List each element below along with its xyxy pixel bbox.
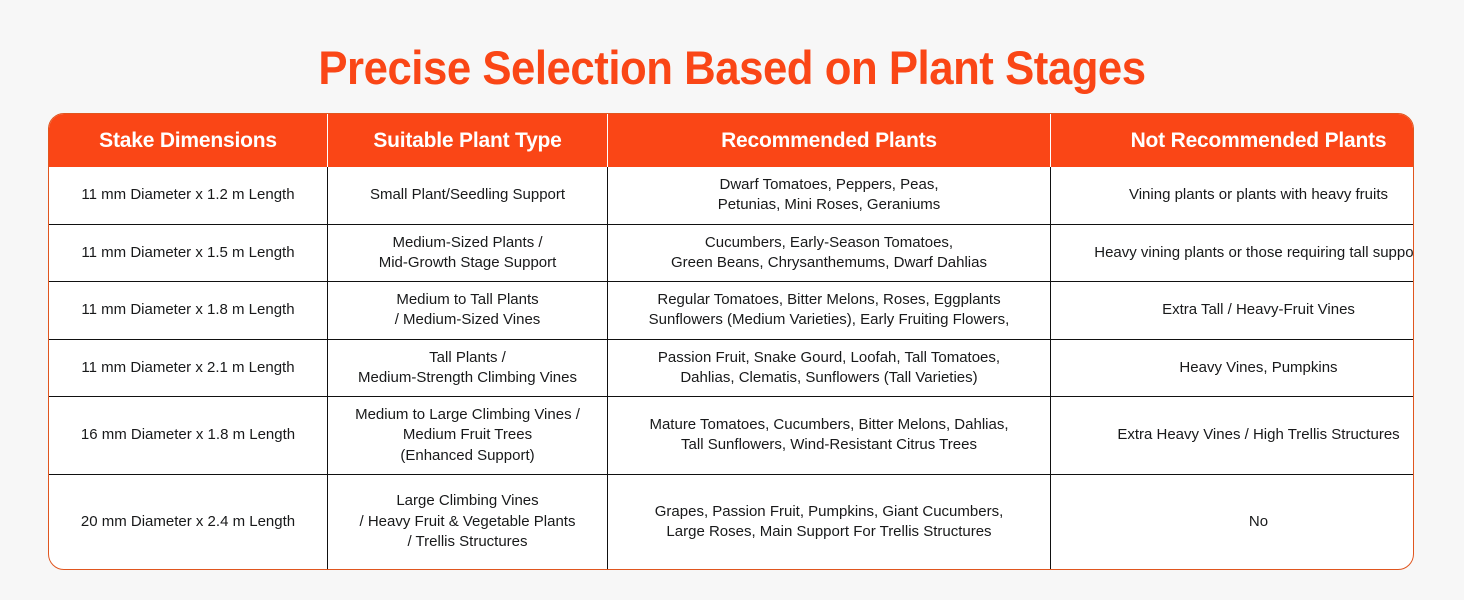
cell-suitable-plant-type: Large Climbing Vines / Heavy Fruit & Veg… — [328, 474, 608, 569]
text-line: / Heavy Fruit & Vegetable Plants — [338, 512, 597, 532]
column-header-recommended-plants: Recommended Plants — [608, 114, 1051, 167]
cell-recommended-plants: Regular Tomatoes, Bitter Melons, Roses, … — [608, 282, 1051, 340]
cell-stake-dimensions: 11 mm Diameter x 2.1 m Length — [49, 339, 328, 397]
text-line: Tall Sunflowers, Wind-Resistant Citrus T… — [618, 435, 1040, 455]
text-line: Extra Tall / Heavy-Fruit Vines — [1061, 300, 1414, 320]
text-line: / Trellis Structures — [338, 532, 597, 552]
cell-suitable-plant-type: Tall Plants / Medium-Strength Climbing V… — [328, 339, 608, 397]
text-line: Small Plant/Seedling Support — [338, 185, 597, 205]
text-line: Mature Tomatoes, Cucumbers, Bitter Melon… — [618, 415, 1040, 435]
text-line: Cucumbers, Early-Season Tomatoes, — [618, 233, 1040, 253]
text-line: Medium-Strength Climbing Vines — [338, 368, 597, 388]
text-line: 11 mm Diameter x 1.5 m Length — [59, 243, 317, 263]
column-header-not-recommended-plants: Not Recommended Plants — [1051, 114, 1415, 167]
text-line: Medium Fruit Trees — [338, 425, 597, 445]
text-line: Grapes, Passion Fruit, Pumpkins, Giant C… — [618, 502, 1040, 522]
text-line: 16 mm Diameter x 1.8 m Length — [59, 425, 317, 445]
comparison-table-container: Stake Dimensions Suitable Plant Type Rec… — [48, 113, 1414, 570]
cell-suitable-plant-type: Medium-Sized Plants / Mid-Growth Stage S… — [328, 224, 608, 282]
cell-not-recommended-plants: Extra Tall / Heavy-Fruit Vines — [1051, 282, 1415, 340]
cell-recommended-plants: Dwarf Tomatoes, Peppers, Peas, Petunias,… — [608, 167, 1051, 224]
cell-not-recommended-plants: Heavy vining plants or those requiring t… — [1051, 224, 1415, 282]
cell-stake-dimensions: 11 mm Diameter x 1.5 m Length — [49, 224, 328, 282]
column-header-suitable-plant-type: Suitable Plant Type — [328, 114, 608, 167]
text-line: Medium to Tall Plants — [338, 290, 597, 310]
text-line: Petunias, Mini Roses, Geraniums — [618, 195, 1040, 215]
table-body: 11 mm Diameter x 1.2 m Length Small Plan… — [49, 167, 1414, 569]
cell-recommended-plants: Grapes, Passion Fruit, Pumpkins, Giant C… — [608, 474, 1051, 569]
text-line: Extra Heavy Vines / High Trellis Structu… — [1061, 425, 1414, 445]
text-line: 11 mm Diameter x 1.2 m Length — [59, 185, 317, 205]
table-row: 11 mm Diameter x 1.2 m Length Small Plan… — [49, 167, 1414, 224]
table-row: 11 mm Diameter x 2.1 m Length Tall Plant… — [49, 339, 1414, 397]
table-header-row: Stake Dimensions Suitable Plant Type Rec… — [49, 114, 1414, 167]
text-line: Tall Plants / — [338, 348, 597, 368]
cell-recommended-plants: Passion Fruit, Snake Gourd, Loofah, Tall… — [608, 339, 1051, 397]
infographic-page: Precise Selection Based on Plant Stages … — [0, 0, 1464, 600]
cell-not-recommended-plants: Extra Heavy Vines / High Trellis Structu… — [1051, 397, 1415, 475]
cell-not-recommended-plants: Heavy Vines, Pumpkins — [1051, 339, 1415, 397]
cell-stake-dimensions: 11 mm Diameter x 1.2 m Length — [49, 167, 328, 224]
text-line: 11 mm Diameter x 1.8 m Length — [59, 300, 317, 320]
table-row: 11 mm Diameter x 1.5 m Length Medium-Siz… — [49, 224, 1414, 282]
cell-not-recommended-plants: No — [1051, 474, 1415, 569]
text-line: / Medium-Sized Vines — [338, 310, 597, 330]
text-line: Medium-Sized Plants / — [338, 233, 597, 253]
cell-stake-dimensions: 16 mm Diameter x 1.8 m Length — [49, 397, 328, 475]
text-line: Green Beans, Chrysanthemums, Dwarf Dahli… — [618, 253, 1040, 273]
text-line: Large Roses, Main Support For Trellis St… — [618, 522, 1040, 542]
cell-recommended-plants: Cucumbers, Early-Season Tomatoes, Green … — [608, 224, 1051, 282]
table-row: 11 mm Diameter x 1.8 m Length Medium to … — [49, 282, 1414, 340]
cell-recommended-plants: Mature Tomatoes, Cucumbers, Bitter Melon… — [608, 397, 1051, 475]
text-line: (Enhanced Support) — [338, 446, 597, 466]
text-line: Large Climbing Vines — [338, 491, 597, 511]
text-line: Sunflowers (Medium Varieties), Early Fru… — [618, 310, 1040, 330]
page-title: Precise Selection Based on Plant Stages — [51, 0, 1413, 91]
text-line: Heavy vining plants or those requiring t… — [1061, 243, 1414, 263]
table-row: 20 mm Diameter x 2.4 m Length Large Clim… — [49, 474, 1414, 569]
text-line: Heavy Vines, Pumpkins — [1061, 358, 1414, 378]
column-header-stake-dimensions: Stake Dimensions — [49, 114, 328, 167]
cell-suitable-plant-type: Small Plant/Seedling Support — [328, 167, 608, 224]
text-line: Mid-Growth Stage Support — [338, 253, 597, 273]
text-line: 20 mm Diameter x 2.4 m Length — [59, 512, 317, 532]
cell-stake-dimensions: 11 mm Diameter x 1.8 m Length — [49, 282, 328, 340]
cell-stake-dimensions: 20 mm Diameter x 2.4 m Length — [49, 474, 328, 569]
text-line: Dwarf Tomatoes, Peppers, Peas, — [618, 175, 1040, 195]
text-line: Passion Fruit, Snake Gourd, Loofah, Tall… — [618, 348, 1040, 368]
text-line: Medium to Large Climbing Vines / — [338, 405, 597, 425]
text-line: 11 mm Diameter x 2.1 m Length — [59, 358, 317, 378]
cell-suitable-plant-type: Medium to Large Climbing Vines / Medium … — [328, 397, 608, 475]
text-line: Regular Tomatoes, Bitter Melons, Roses, … — [618, 290, 1040, 310]
table-row: 16 mm Diameter x 1.8 m Length Medium to … — [49, 397, 1414, 475]
text-line: Vining plants or plants with heavy fruit… — [1061, 185, 1414, 205]
stake-selection-table: Stake Dimensions Suitable Plant Type Rec… — [49, 114, 1414, 569]
text-line: Dahlias, Clematis, Sunflowers (Tall Vari… — [618, 368, 1040, 388]
text-line: No — [1061, 512, 1414, 532]
cell-suitable-plant-type: Medium to Tall Plants / Medium-Sized Vin… — [328, 282, 608, 340]
cell-not-recommended-plants: Vining plants or plants with heavy fruit… — [1051, 167, 1415, 224]
table-header: Stake Dimensions Suitable Plant Type Rec… — [49, 114, 1414, 167]
